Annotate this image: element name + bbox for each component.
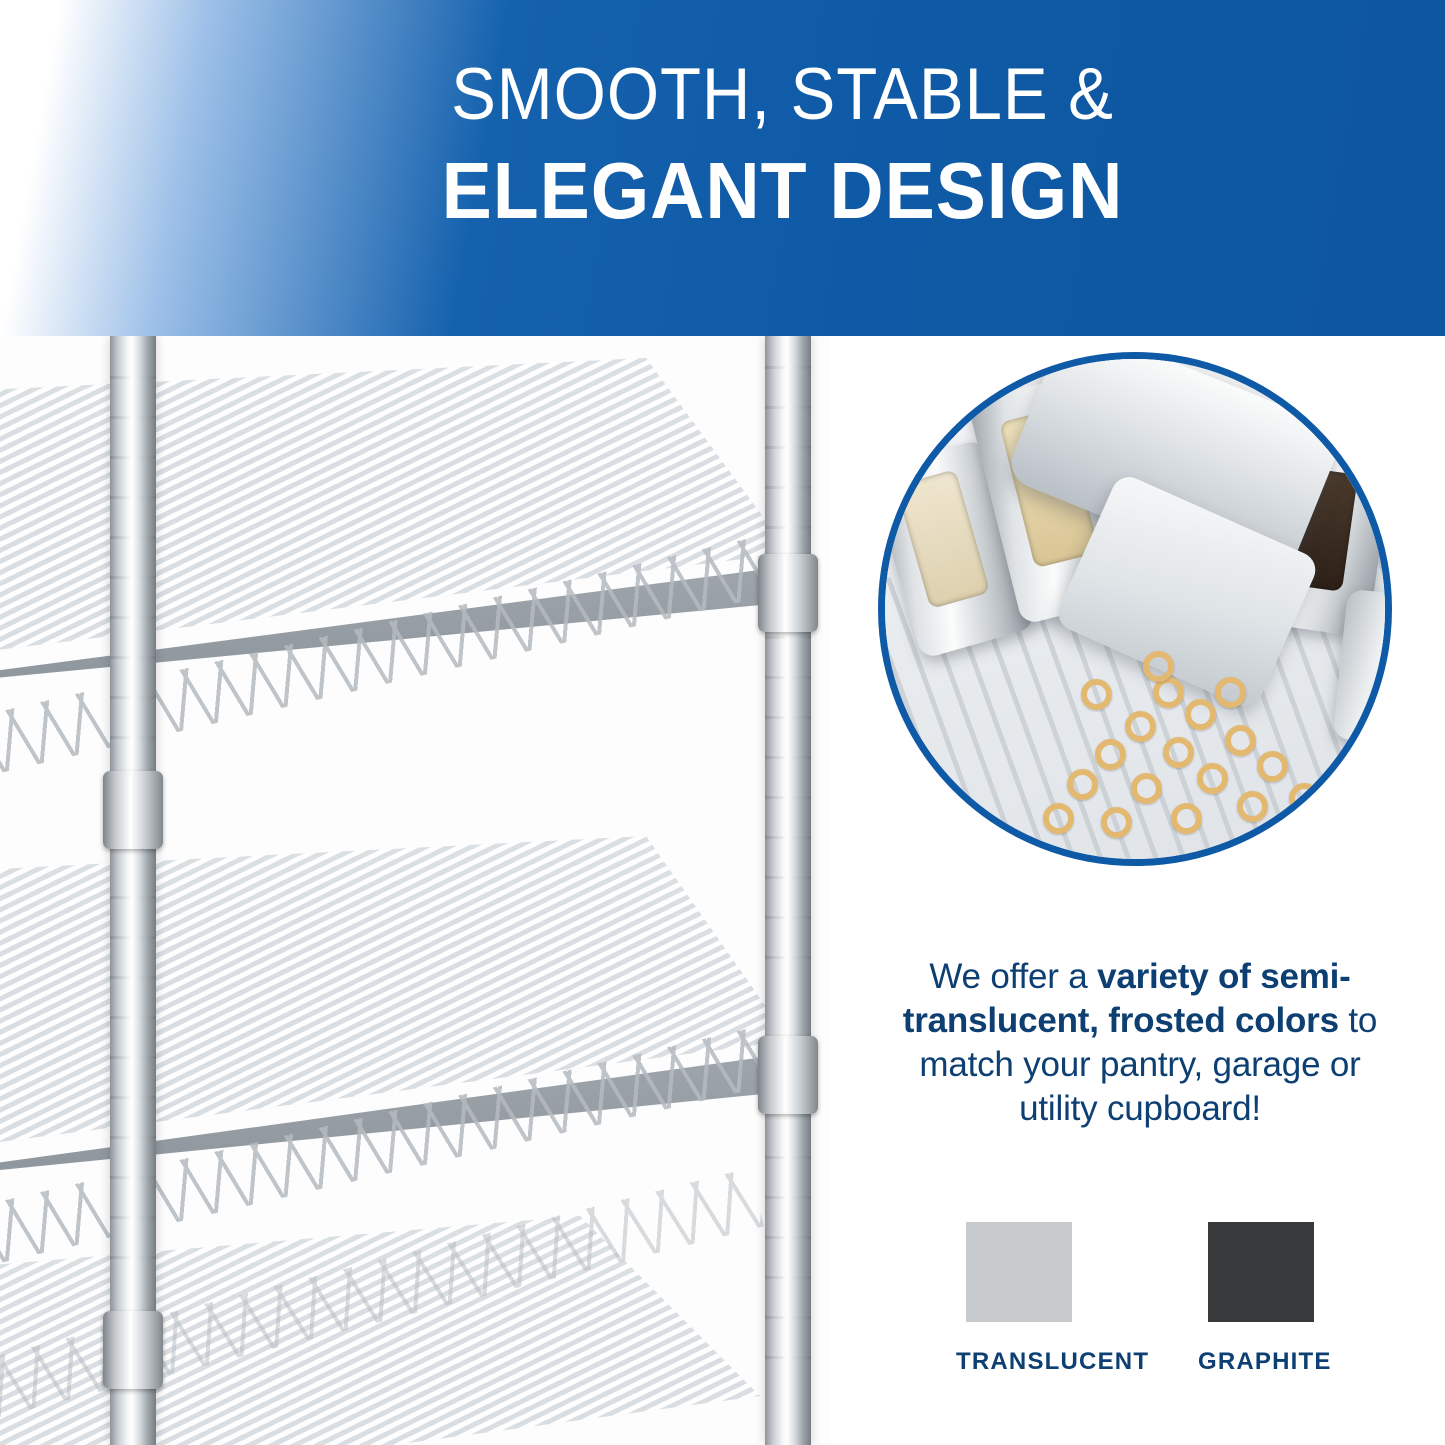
swatch-translucent: TRANSLUCENT — [956, 1222, 1082, 1376]
swatch-chip-translucent — [966, 1222, 1072, 1322]
chrome-post-left — [110, 336, 156, 1445]
post-collar-left-lower — [103, 1311, 163, 1389]
swatch-label-translucent: TRANSLUCENT — [956, 1348, 1082, 1376]
body-copy: We offer a variety of semi-translucent, … — [880, 955, 1400, 1131]
wire-shelving-photo — [0, 336, 830, 1445]
color-swatch-row: TRANSLUCENT GRAPHITE — [880, 1222, 1400, 1376]
post-collar-right-upper — [758, 554, 818, 632]
body-copy-part-1: We offer a — [929, 957, 1097, 996]
headline-line-2: ELEGANT DESIGN — [160, 145, 1406, 237]
swatch-chip-graphite — [1208, 1222, 1314, 1322]
swatch-label-graphite: GRAPHITE — [1198, 1348, 1324, 1376]
product-infographic: SMOOTH, STABLE & ELEGANT DESIGN — [0, 0, 1445, 1445]
headline-line-1: SMOOTH, STABLE & — [173, 58, 1392, 131]
header-banner: SMOOTH, STABLE & ELEGANT DESIGN — [0, 0, 1445, 336]
header-text-block: SMOOTH, STABLE & ELEGANT DESIGN — [0, 58, 1445, 237]
chrome-post-right — [765, 336, 811, 1445]
post-collar-left-upper — [103, 771, 163, 849]
post-collar-right-lower — [758, 1036, 818, 1114]
circle-product-photo — [878, 352, 1392, 866]
swatch-graphite: GRAPHITE — [1198, 1222, 1324, 1376]
